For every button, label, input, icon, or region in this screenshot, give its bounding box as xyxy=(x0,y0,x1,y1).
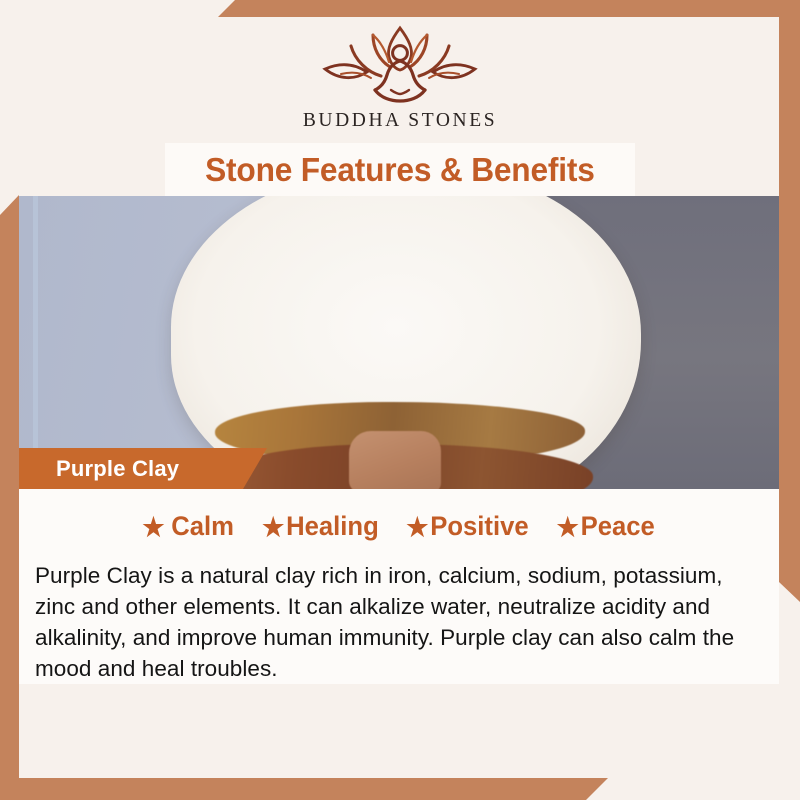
benefit-label: Positive xyxy=(431,511,529,542)
headline-panel: Stone Features & Benefits xyxy=(165,143,635,196)
description-text: Purple Clay is a natural clay rich in ir… xyxy=(35,560,763,684)
benefit-item-peace: ★ Peace xyxy=(557,511,655,542)
product-photo xyxy=(19,196,779,489)
benefit-label: Calm xyxy=(171,511,234,542)
star-icon: ★ xyxy=(262,514,284,540)
frame-band-top xyxy=(218,0,800,17)
stone-name-tag: Purple Clay xyxy=(19,448,267,489)
frame-band-left xyxy=(0,195,19,800)
benefit-item-healing: ★ Healing xyxy=(262,511,379,542)
star-icon: ★ xyxy=(557,514,579,540)
star-icon: ★ xyxy=(143,514,165,540)
lotus-meditation-icon xyxy=(311,22,489,104)
stone-name-label: Purple Clay xyxy=(56,456,179,482)
benefit-item-positive: ★ Positive xyxy=(407,511,529,542)
benefit-label: Peace xyxy=(581,511,655,542)
powder-swatch-top xyxy=(349,431,441,489)
poster-root: BUDDHA STONES Stone Features & Benefits … xyxy=(0,0,800,800)
benefit-label: Healing xyxy=(286,511,379,542)
benefit-item-calm: ★ Calm xyxy=(143,511,235,542)
brand-logo: BUDDHA STONES xyxy=(0,22,800,132)
brand-wordmark: BUDDHA STONES xyxy=(303,110,497,132)
content-panel: ★ Calm ★ Healing ★ Positive ★ Peace Purp… xyxy=(19,489,779,684)
photo-edge-stripe xyxy=(33,196,38,489)
frame-band-bottom xyxy=(0,778,608,800)
benefits-list: ★ Calm ★ Healing ★ Positive ★ Peace xyxy=(19,507,779,552)
star-icon: ★ xyxy=(407,514,429,540)
page-title: Stone Features & Benefits xyxy=(205,151,595,189)
